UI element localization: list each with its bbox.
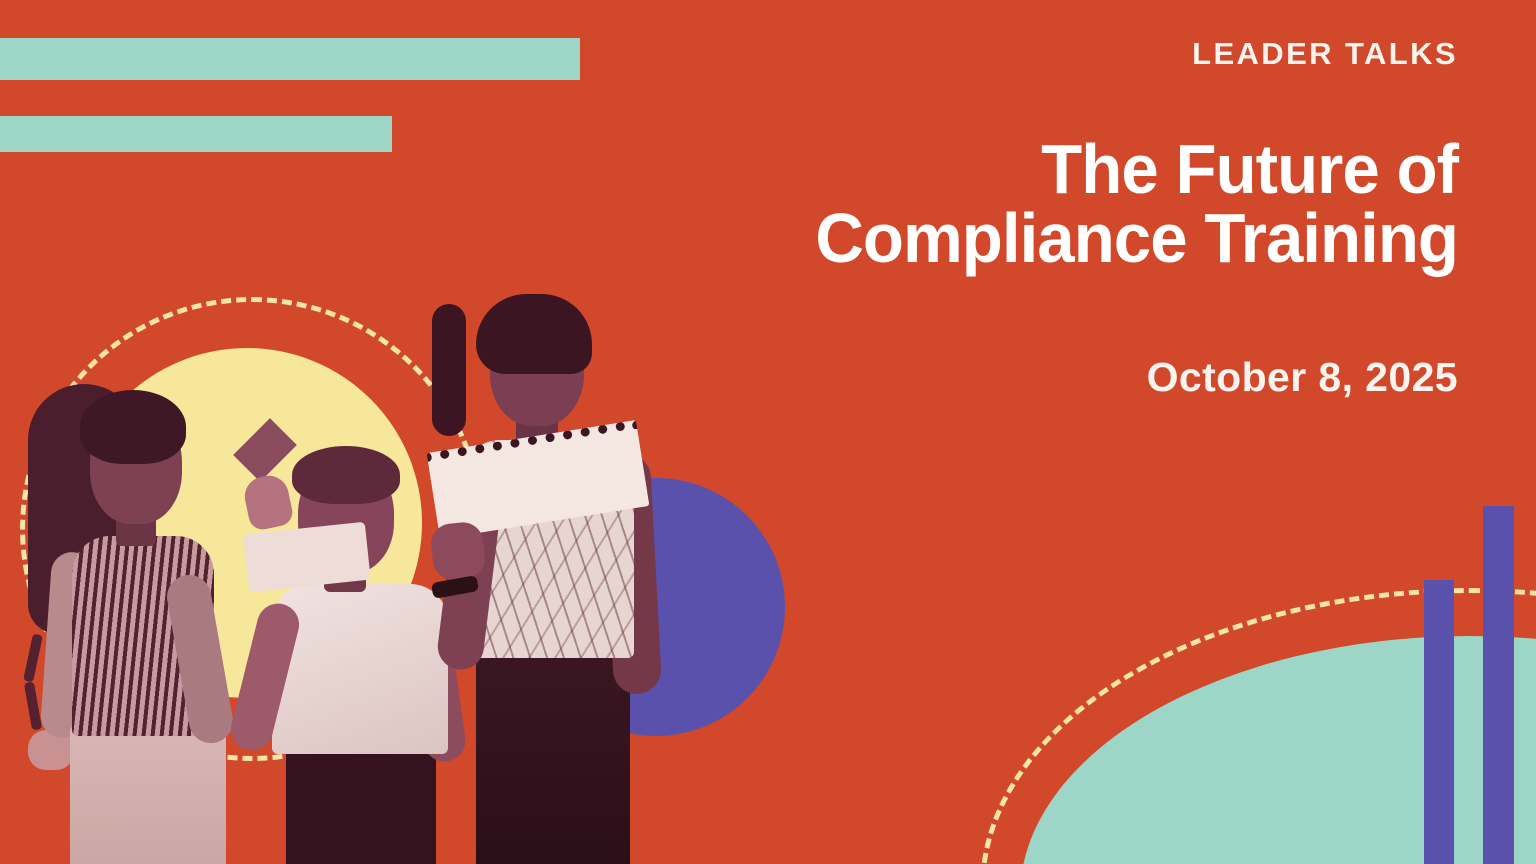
woman-right-patterned-shirt [432,304,682,864]
strap-right [24,681,42,730]
hand [429,520,487,581]
teal-bar-top [0,38,580,80]
presentation-slide: LEADER TALKS The Future of Compliance Tr… [0,0,1536,864]
headline-line-1: The Future of [690,135,1458,204]
page-title: The Future of Compliance Training [690,135,1458,272]
purple-bar-tall [1483,506,1514,864]
hair [292,446,400,504]
strap-left [23,633,43,682]
headline-line-2: Compliance Training [690,204,1458,273]
skirt [286,746,436,864]
braid [432,304,466,436]
title-text-block: LEADER TALKS The Future of Compliance Tr… [658,30,1458,401]
event-date: October 8, 2025 [658,354,1458,401]
duotone-photo-three-women [0,304,700,864]
eyebrow-label: LEADER TALKS [658,38,1458,69]
purple-bar-short [1424,580,1454,864]
white-blouse [272,584,448,754]
woman-left-striped-top [28,384,268,864]
trousers [70,724,226,864]
teal-ellipse-decoration [1020,636,1536,864]
dark-jeans [476,648,630,864]
raised-hand [241,472,295,532]
teal-bar-bottom [0,116,392,152]
hair [476,294,592,374]
hair [80,390,186,464]
